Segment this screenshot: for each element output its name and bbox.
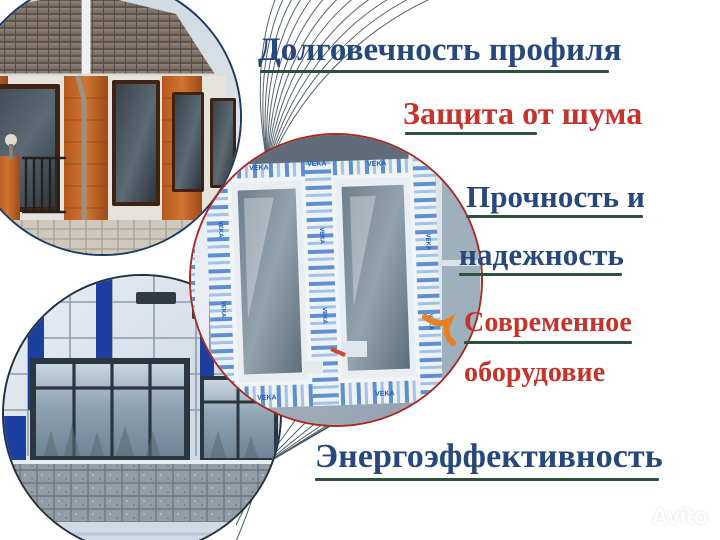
headline-energy-efficiency: Энергоэффективность (315, 440, 663, 481)
svg-text:VEKA: VEKA (375, 390, 395, 398)
headline-underline (459, 273, 622, 276)
advertisement-banner: VEKA VEKA VEKA VEKA VEKA VEKA VEKA VEKA … (0, 0, 720, 540)
svg-text:VEKA: VEKA (321, 307, 328, 325)
headline-underline (260, 70, 609, 73)
svg-text:VEKA: VEKA (217, 221, 224, 239)
svg-text:VEKA: VEKA (318, 227, 325, 245)
photo-circle-pvc-windows: VEKA VEKA VEKA VEKA VEKA VEKA VEKA VEKA … (191, 135, 481, 425)
headline-text: Долговечность профиля (258, 32, 622, 68)
headline-text: Современное (464, 307, 632, 338)
svg-text:VEKA: VEKA (424, 234, 431, 252)
svg-text:VEKA: VEKA (249, 164, 269, 172)
svg-text:VEKA: VEKA (367, 160, 387, 168)
headline-noise-protection: Защита от шума (403, 97, 642, 135)
svg-text:VEKA: VEKA (257, 394, 277, 402)
headline-underline (464, 341, 632, 344)
pvc-windows-photo: VEKA VEKA VEKA VEKA VEKA VEKA VEKA VEKA … (191, 135, 481, 425)
headline-text: Прочность и (466, 179, 645, 214)
avito-watermark: Avito (623, 505, 708, 528)
avito-dots-icon (623, 506, 647, 528)
headline-text: Защита от шума (403, 95, 642, 131)
headline-strength-line2: надежность (459, 239, 624, 276)
headline-underline (315, 478, 659, 481)
headline-text: Энергоэффективность (315, 438, 663, 475)
headline-modern-equipment-line2: оборудовие (464, 359, 605, 387)
headline-text: надежность (459, 237, 624, 272)
headline-text: оборудовие (464, 357, 605, 388)
headline-underline (466, 215, 643, 218)
headline-underline (405, 132, 537, 135)
headline-modern-equipment-line1: Современное (464, 309, 632, 344)
avito-wordmark: Avito (651, 505, 708, 528)
svg-text:VEKA: VEKA (219, 301, 226, 319)
headline-strength-line1: Прочность и (466, 181, 645, 218)
svg-text:VEKA: VEKA (307, 160, 327, 168)
headline-durability: Долговечность профиля (258, 34, 622, 73)
